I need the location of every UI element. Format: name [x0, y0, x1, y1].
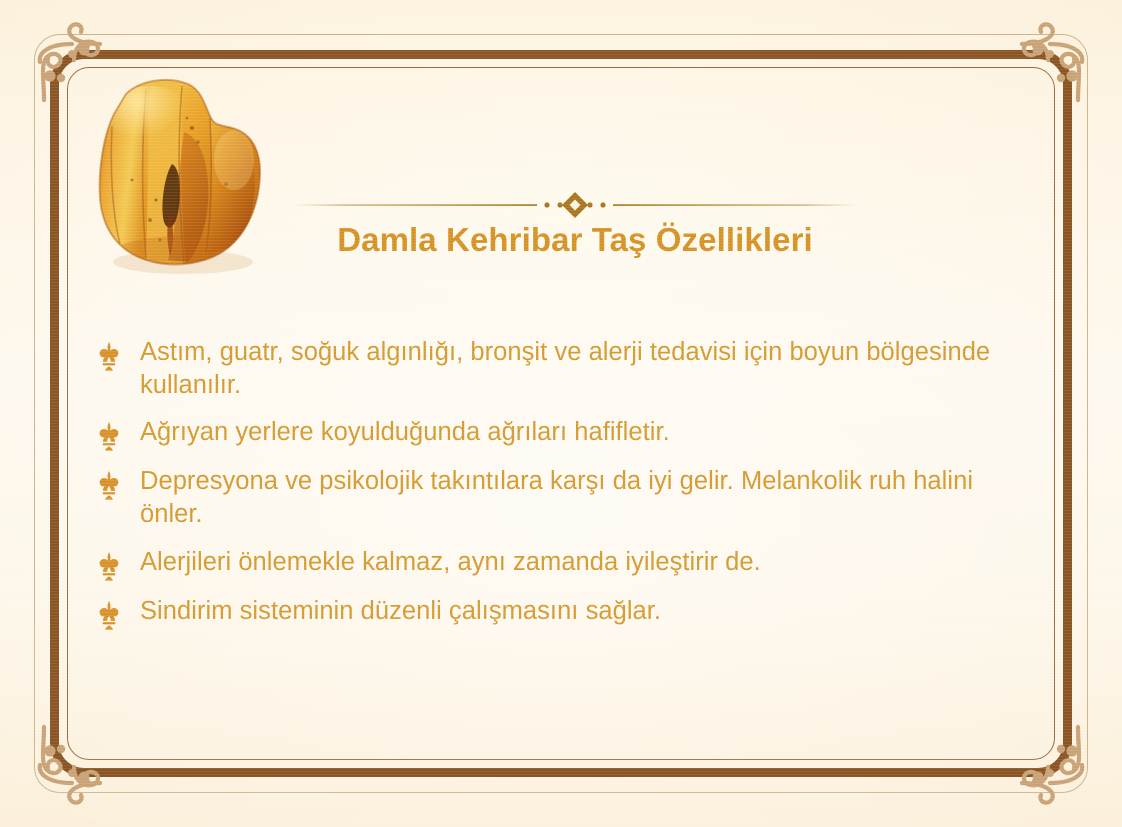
corner-flourish-bottom-left-icon: [14, 705, 122, 813]
list-item-text: Sindirim sisteminin düzenli çalışmasını …: [140, 595, 661, 628]
fleur-de-lis-icon: [96, 421, 122, 451]
list-item: Sindirim sisteminin düzenli çalışmasını …: [96, 595, 1036, 630]
fleur-de-lis-icon: [96, 600, 122, 630]
title-block: Damla Kehribar Taş Özellikleri: [275, 188, 875, 259]
list-item: Astım, guatr, soğuk algınlığı, bronşit v…: [96, 336, 1036, 402]
fleur-de-lis-icon: [96, 551, 122, 581]
corner-flourish-bottom-right-icon: [1000, 705, 1108, 813]
diamond-ornament-divider-icon: [275, 188, 875, 222]
list-item: Ağrıyan yerlere koyulduğunda ağrıları ha…: [96, 416, 1036, 451]
corner-flourish-top-right-icon: [1000, 14, 1108, 122]
list-item-text: Astım, guatr, soğuk algınlığı, bronşit v…: [140, 336, 1036, 402]
fleur-de-lis-icon: [96, 341, 122, 371]
amber-stone-image: [88, 72, 273, 277]
list-item-text: Ağrıyan yerlere koyulduğunda ağrıları ha…: [140, 416, 670, 449]
page-title: Damla Kehribar Taş Özellikleri: [275, 222, 875, 259]
list-item-text: Alerjileri önlemekle kalmaz, aynı zamand…: [140, 546, 761, 579]
list-item: Alerjileri önlemekle kalmaz, aynı zamand…: [96, 546, 1036, 581]
fleur-de-lis-icon: [96, 470, 122, 500]
features-list: Astım, guatr, soğuk algınlığı, bronşit v…: [96, 336, 1036, 644]
info-card: Damla Kehribar Taş Özellikleri Astım, gu…: [0, 0, 1122, 827]
list-item-text: Depresyona ve psikolojik takıntılara kar…: [140, 465, 1036, 531]
list-item: Depresyona ve psikolojik takıntılara kar…: [96, 465, 1036, 531]
